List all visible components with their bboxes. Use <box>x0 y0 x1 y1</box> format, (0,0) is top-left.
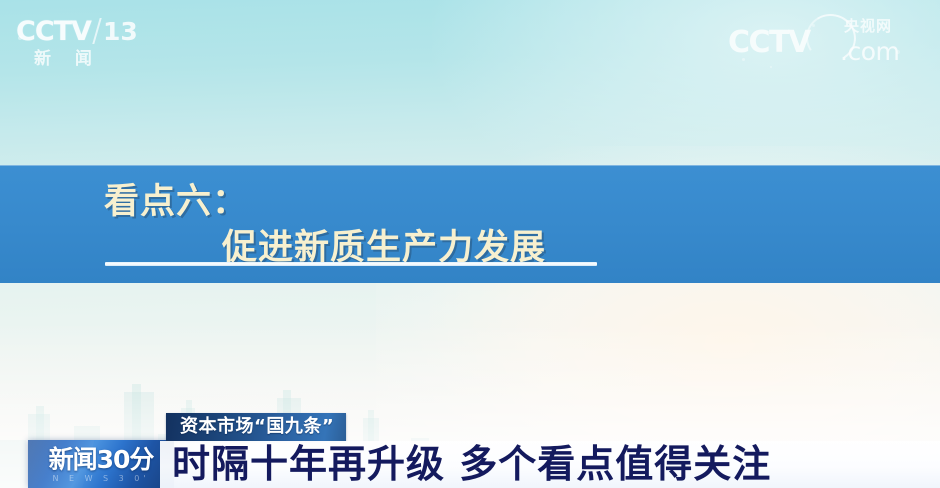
lower-third: 新闻30分 N E W S 3 0' 资本市场“国九条” 时隔十年再升级 多个看… <box>0 396 940 488</box>
program-logo-news30: 新闻30分 N E W S 3 0' <box>28 440 174 488</box>
banner-underline-rule <box>105 262 597 266</box>
channel-logo-cctv13: CCTV 13 新 闻 <box>16 14 142 76</box>
title-banner: 看点六： 促进新质生产力发展 <box>0 165 940 283</box>
channel-logo-row: CCTV 13 <box>16 14 142 48</box>
topic-strip-label: 资本市场“国九条” <box>180 418 334 436</box>
program-logo-english-text: N E W S 3 0' <box>52 475 149 483</box>
headline-bar: 时隔十年再升级 多个看点值得关注 <box>160 441 940 488</box>
watermark-chinese-text: 央视网 <box>844 19 892 34</box>
headline-text: 时隔十年再升级 多个看点值得关注 <box>172 441 771 487</box>
channel-brand-text: CCTV <box>16 18 91 45</box>
program-logo-chinese-text: 新闻30分 <box>49 447 154 472</box>
watermark-domain-text: .com <box>840 39 899 64</box>
channel-subtitle-text: 新 闻 <box>16 51 142 68</box>
channel-number-text: 13 <box>103 19 138 44</box>
topic-strip: 资本市场“国九条” <box>166 413 346 441</box>
watermark-brand-text: CCTV <box>728 28 810 58</box>
watermark-cctv-com: CCTV 央视网 .com <box>728 12 924 70</box>
broadcast-frame: CCTV 13 新 闻 CCTV 央视网 .com 看点六： 促进新质生产力发展… <box>0 0 940 488</box>
slash-separator-icon <box>92 18 101 44</box>
banner-heading-line1: 看点六： <box>104 173 248 224</box>
